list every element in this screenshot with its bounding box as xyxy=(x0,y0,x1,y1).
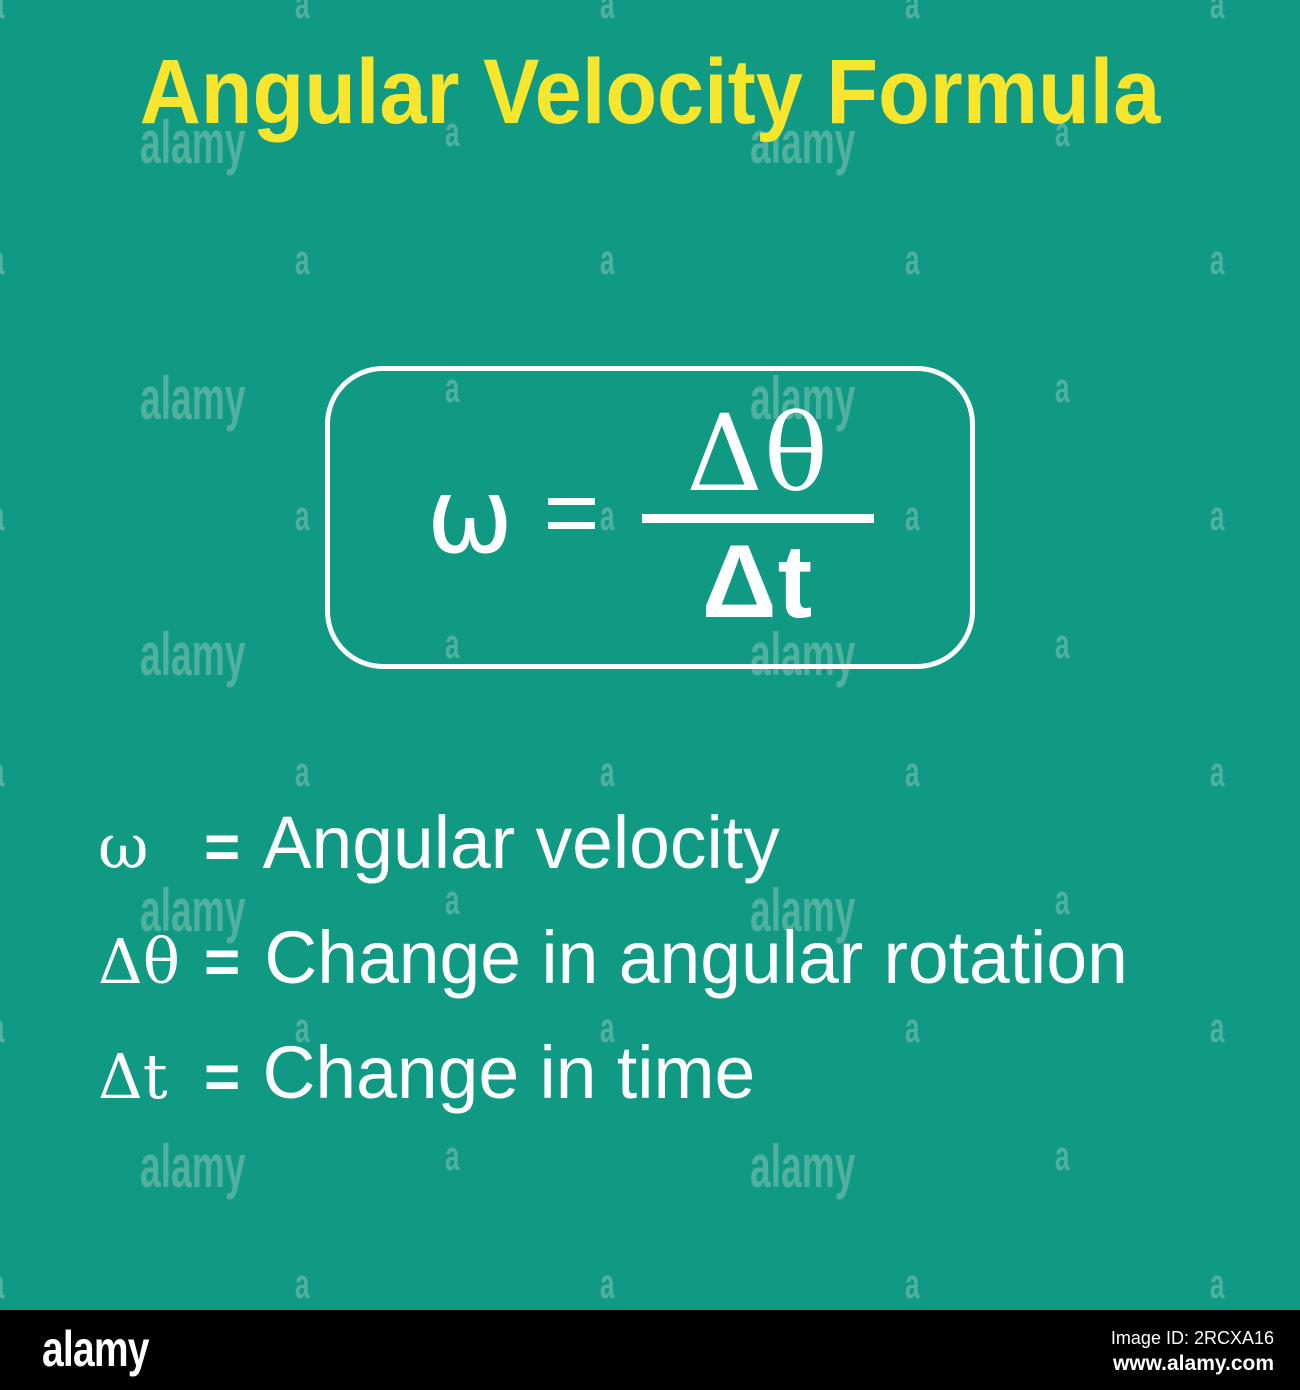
alamy-footer-bar: alamy Image ID: 2RCXA16 www.alamy.com xyxy=(0,1310,1300,1390)
poster-root: aaaaaalamyaalamyaalamyaaaaaalamyaalamyaa… xyxy=(0,0,1300,1390)
watermark-letter: a xyxy=(600,0,614,28)
legend-description: Angular velocity xyxy=(263,806,780,880)
legend-row: ω = Angular velocity xyxy=(98,806,1228,921)
footer-meta: Image ID: 2RCXA16 www.alamy.com xyxy=(1111,1326,1274,1379)
legend-description: Change in time xyxy=(262,1036,755,1110)
fraction-bar xyxy=(642,514,874,523)
watermark-letter: a xyxy=(295,0,309,28)
fraction: Δθ Δt xyxy=(642,400,874,635)
watermark-letter: a xyxy=(1055,620,1069,668)
formula-expression: ω = Δθ Δt xyxy=(330,371,970,664)
legend-row: Δθ = Change in angular rotation xyxy=(98,921,1228,1036)
watermark-letter: a xyxy=(0,236,4,284)
watermark-letter: a xyxy=(295,236,309,284)
legend-description: Change in angular rotation xyxy=(264,921,1127,995)
alamy-logo: alamy xyxy=(42,1324,149,1374)
legend-row: Δt = Change in time xyxy=(98,1036,1228,1151)
watermark-word: alamy xyxy=(140,620,245,689)
watermark-letter: a xyxy=(905,748,919,796)
watermark-letter: a xyxy=(1210,1260,1224,1308)
image-id-label: Image ID: 2RCXA16 xyxy=(1111,1326,1274,1350)
watermark-letter: a xyxy=(1210,236,1224,284)
fraction-numerator: Δθ xyxy=(686,400,828,508)
watermark-letter: a xyxy=(1210,748,1224,796)
watermark-letter: a xyxy=(295,492,309,540)
legend-symbol: Δt xyxy=(98,1046,204,1108)
legend-equals: = xyxy=(204,932,260,994)
watermark-letter: a xyxy=(600,236,614,284)
legend-list: ω = Angular velocity Δθ = Change in angu… xyxy=(98,806,1228,1151)
artwork-canvas: aaaaaalamyaalamyaalamyaaaaaalamyaalamyaa… xyxy=(0,0,1300,1310)
legend-symbol: Δθ xyxy=(98,931,204,993)
legend-equals: = xyxy=(204,1047,260,1109)
watermark-letter: a xyxy=(0,1004,4,1052)
equals-sign: = xyxy=(544,465,600,561)
watermark-word: alamy xyxy=(140,364,245,433)
omega-symbol: ω xyxy=(426,464,513,568)
formula-box: ω = Δθ Δt xyxy=(325,366,975,669)
watermark-letter: a xyxy=(0,0,4,28)
fraction-denominator: Δt xyxy=(702,529,813,635)
watermark-letter: a xyxy=(0,492,4,540)
legend-equals: = xyxy=(204,817,260,879)
watermark-letter: a xyxy=(905,1260,919,1308)
watermark-letter: a xyxy=(1055,364,1069,412)
watermark-letter: a xyxy=(600,748,614,796)
watermark-letter: a xyxy=(1210,492,1224,540)
watermark-letter: a xyxy=(0,1260,4,1308)
watermark-letter: a xyxy=(295,748,309,796)
page-title: Angular Velocity Formula xyxy=(52,44,1248,141)
watermark-letter: a xyxy=(0,748,4,796)
watermark-letter: a xyxy=(295,1260,309,1308)
watermark-letter: a xyxy=(905,0,919,28)
legend-symbol: ω xyxy=(98,816,204,878)
alamy-url-link[interactable]: www.alamy.com xyxy=(1111,1350,1274,1378)
watermark-letter: a xyxy=(600,1260,614,1308)
watermark-letter: a xyxy=(1210,0,1224,28)
watermark-letter: a xyxy=(905,236,919,284)
